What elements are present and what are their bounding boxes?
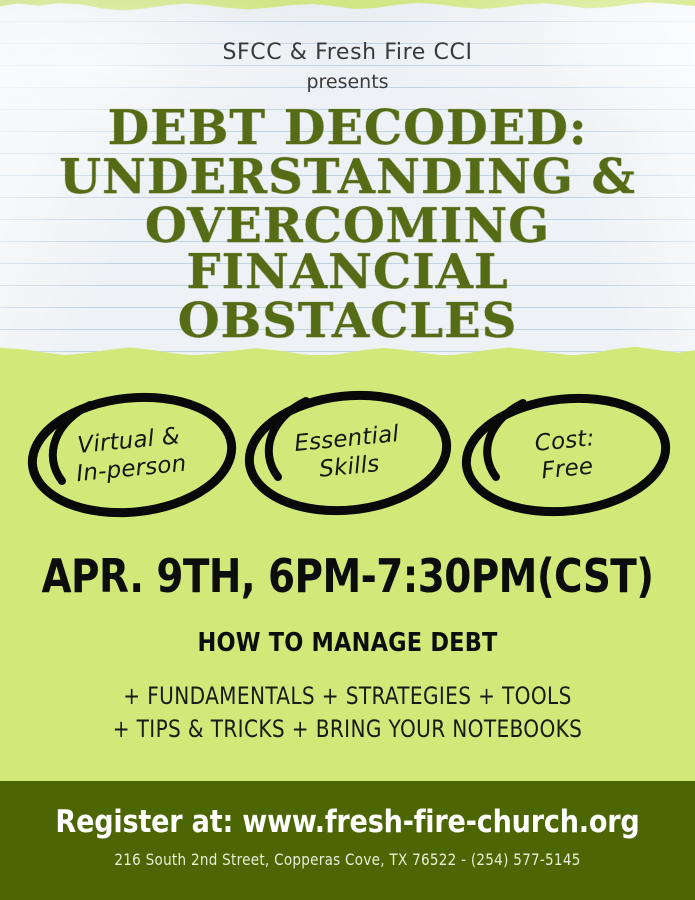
registration-url[interactable]: Register at: www.fresh-fire-church.org: [10, 804, 684, 840]
badge-virtual-in-person: Virtual & In-person: [16, 385, 244, 525]
badge-line-2: Skills: [318, 450, 381, 484]
badge-label: Cost: Free: [446, 374, 686, 535]
title-line-3: OVERCOMING FINANCIAL: [0, 203, 695, 295]
address-phone-line: 216 South 2nd Street, Copperas Cove, TX …: [21, 850, 674, 869]
badge-essential-skills: Essential Skills: [234, 383, 462, 523]
subject-line: HOW TO MANAGE DEBT: [14, 628, 681, 658]
badge-line-2: Free: [540, 453, 594, 486]
date-time-line: APR. 9TH, 6PM-7:30PM(CST): [21, 552, 674, 600]
badge-cost-free: Cost: Free: [452, 385, 680, 525]
title-line-2: UNDERSTANDING &: [0, 154, 695, 200]
event-details: APR. 9TH, 6PM-7:30PM(CST) HOW TO MANAGE …: [0, 552, 695, 745]
presents-label: presents: [0, 68, 695, 97]
title-line-1: DEBT DECODED:: [0, 105, 695, 151]
topics-line-2: + TIPS & TRICKS + BRING YOUR NOTEBOOKS: [24, 713, 670, 745]
badge-label: Virtual & In-person: [10, 374, 250, 535]
presenter-name: SFCC & Fresh Fire CCI: [0, 38, 695, 68]
event-title: DEBT DECODED: UNDERSTANDING & OVERCOMING…: [0, 105, 695, 347]
topics-line-1: + FUNDAMENTALS + STRATEGIES + TOOLS: [24, 680, 670, 712]
footer-contact-bar: Register at: www.fresh-fire-church.org 2…: [0, 781, 695, 900]
flyer-poster: SFCC & Fresh Fire CCI presents DEBT DECO…: [0, 0, 695, 900]
feature-badges-row: Virtual & In-person Essential Skills Cos…: [0, 383, 695, 533]
topics-list: + FUNDAMENTALS + STRATEGIES + TOOLS + TI…: [0, 680, 695, 745]
presenter-header: SFCC & Fresh Fire CCI presents: [0, 38, 695, 96]
badge-label: Essential Skills: [228, 372, 468, 533]
title-line-4: OBSTACLES: [0, 298, 695, 344]
